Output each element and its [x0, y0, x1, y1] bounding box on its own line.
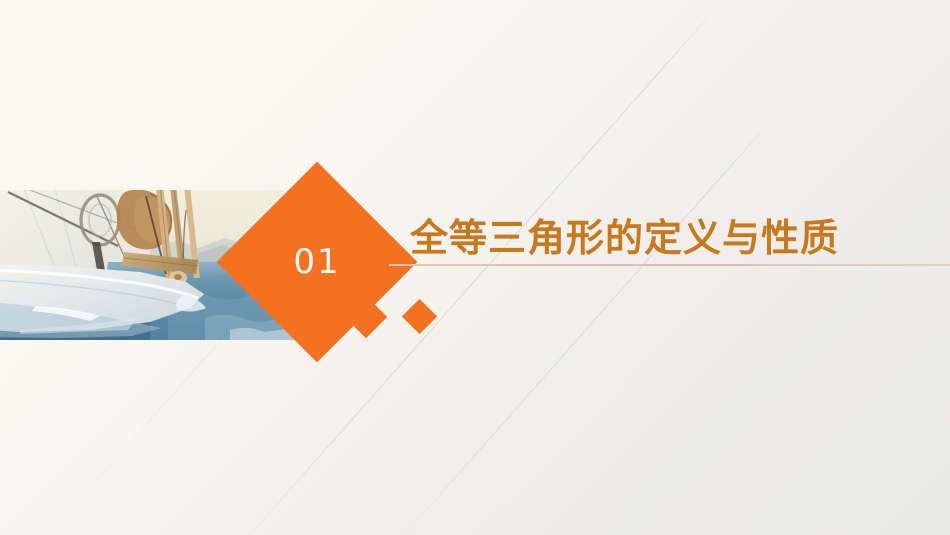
slide-canvas: 01 全等三角形的定义与性质 [0, 0, 950, 535]
title-underline-rule [389, 264, 950, 266]
section-number-diamond: 01 [217, 162, 418, 363]
page-title: 全等三角形的定义与性质 [410, 216, 839, 260]
decorative-diamond-small [402, 299, 437, 334]
